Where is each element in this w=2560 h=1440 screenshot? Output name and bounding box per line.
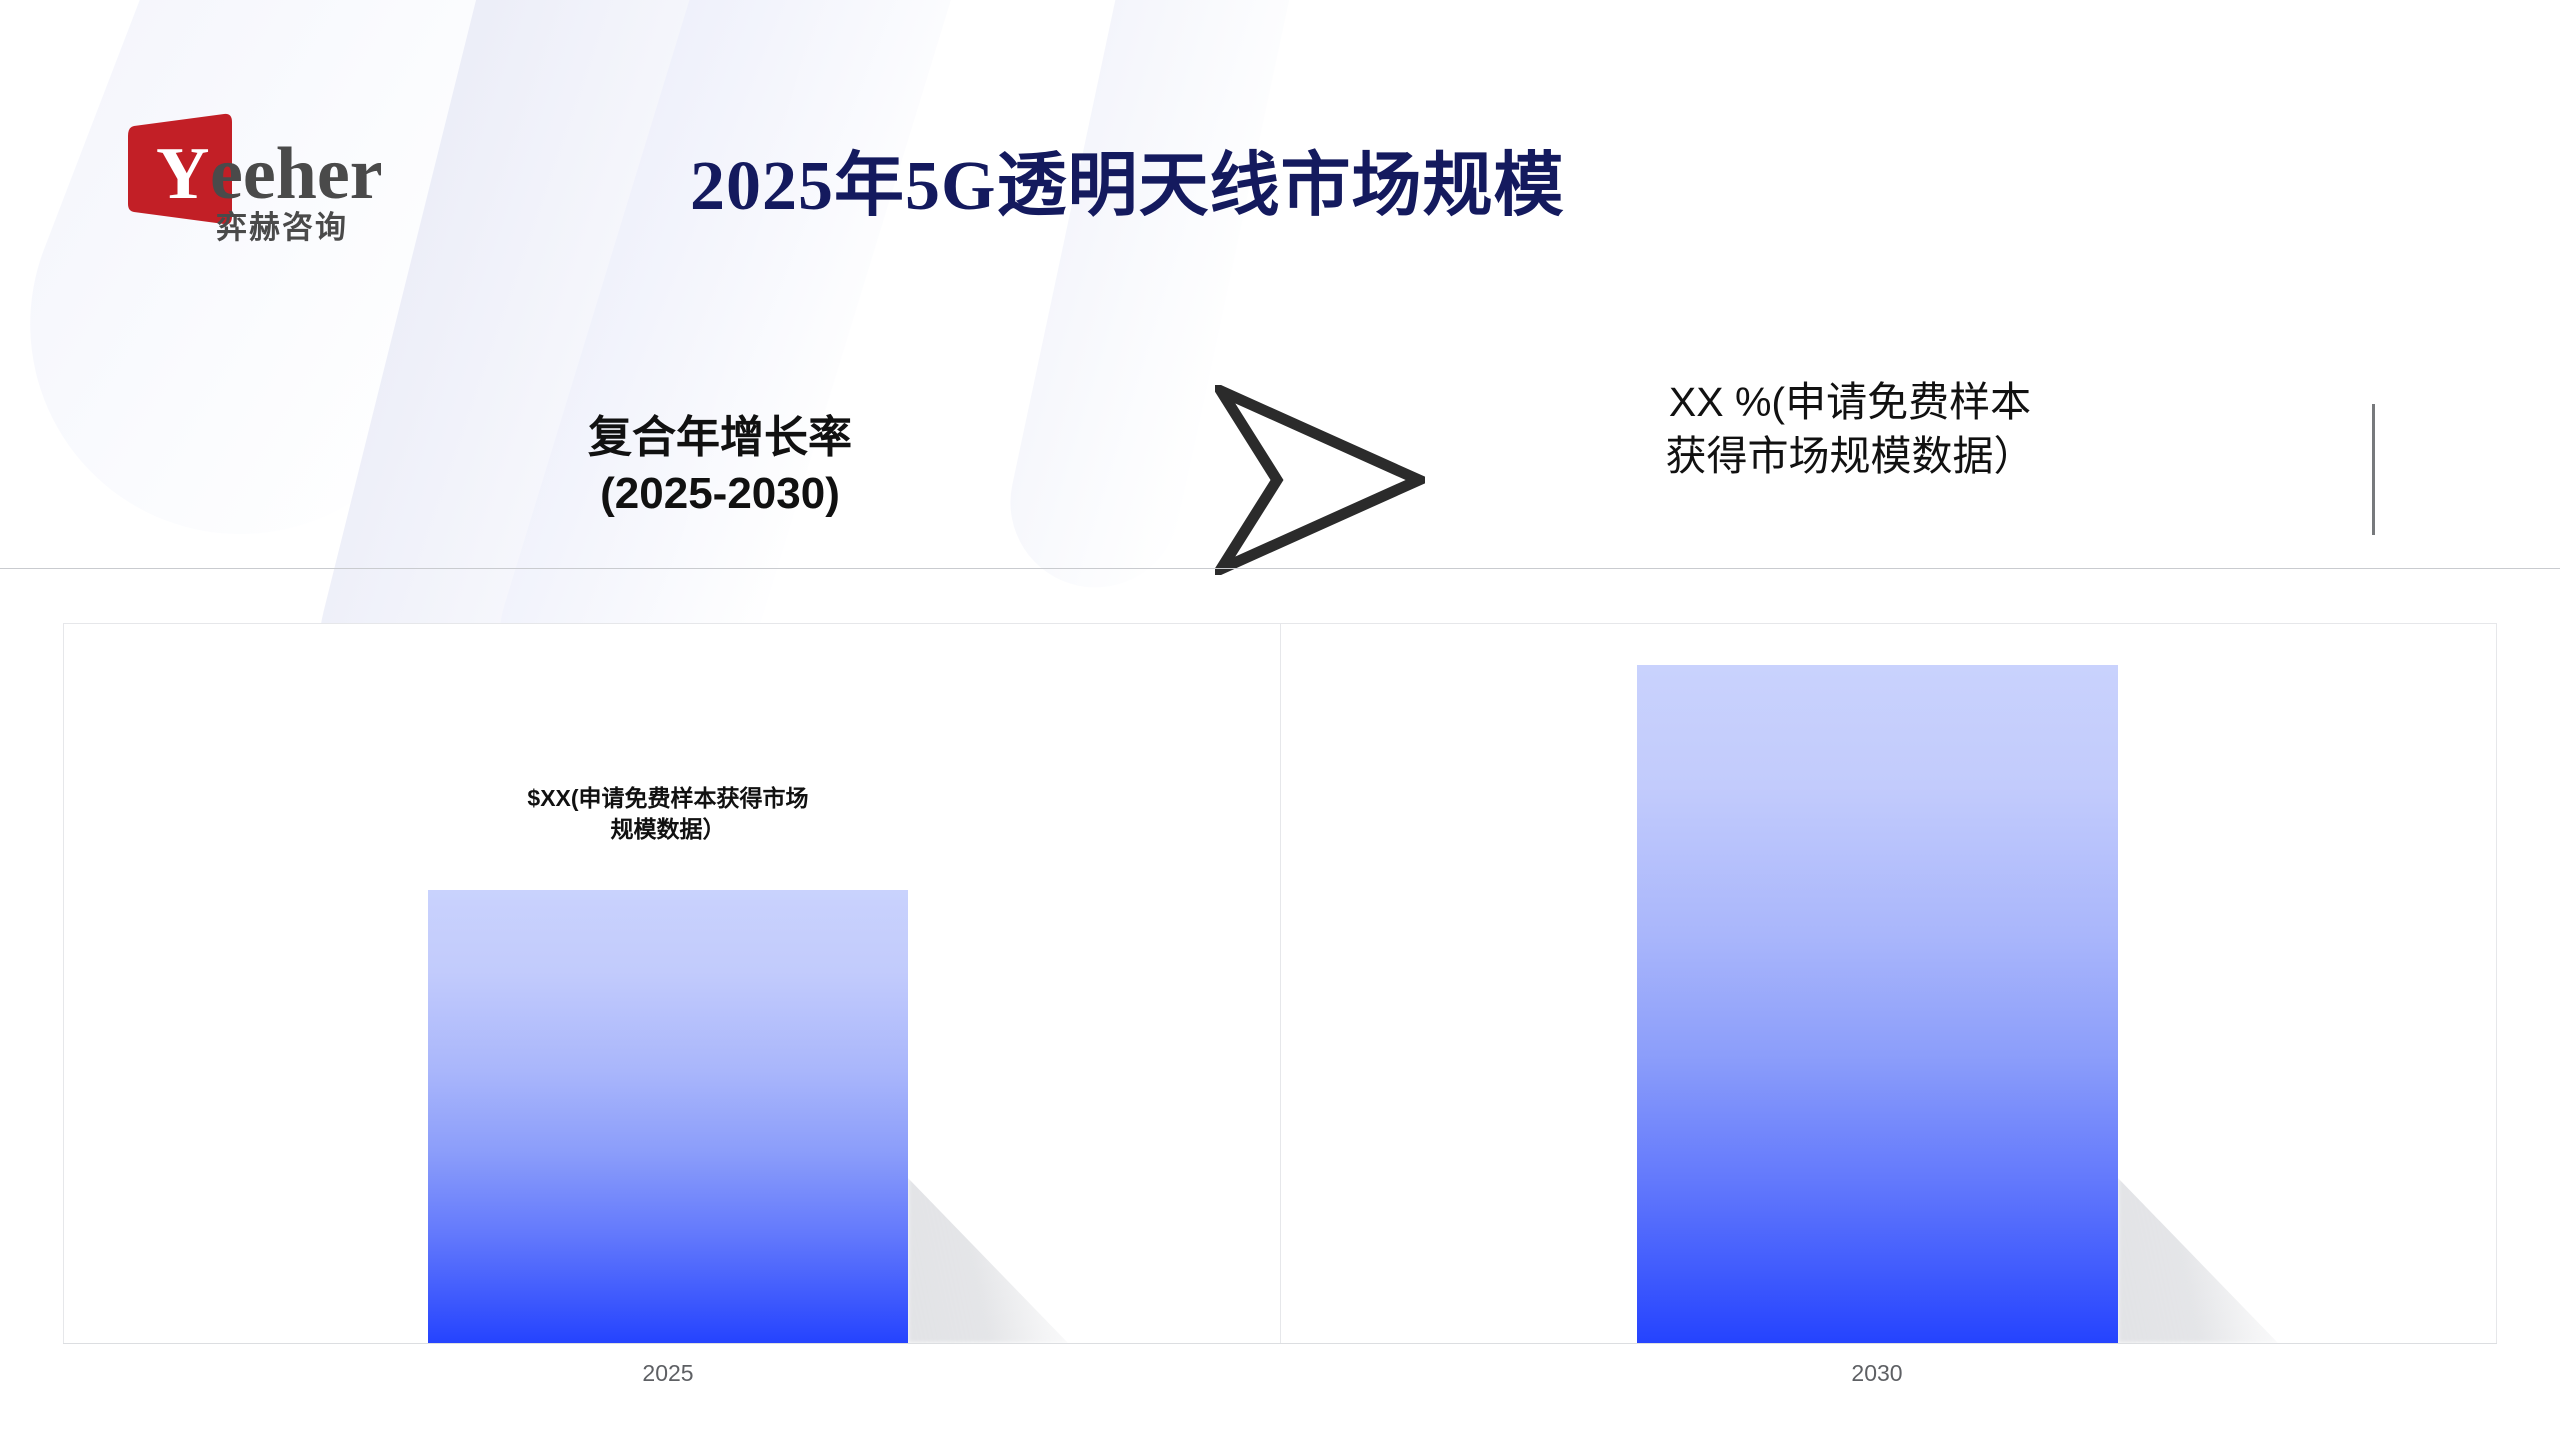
bar-2030[interactable] [1637, 665, 2118, 1343]
bar-data-label-2025: $XX(申请免费样本获得市场 规模数据） [443, 783, 893, 846]
cagr-label-line1: 复合年增长率 [470, 410, 970, 466]
x-axis-tick-2025: 2025 [443, 1360, 893, 1387]
arrow-right-outline-icon [1215, 385, 1425, 575]
chart-baseline [63, 1343, 2497, 1344]
yeeher-logo-icon: Y eeher 弈赫咨询 [128, 112, 468, 242]
right-vertical-divider [2372, 404, 2375, 535]
cagr-label-line2: (2025-2030) [470, 466, 970, 522]
cagr-label: 复合年增长率 (2025-2030) [470, 410, 970, 523]
bar-data-label-2025-line2: 规模数据） [611, 816, 726, 842]
page-title: 2025年5G透明天线市场规模 [690, 150, 1790, 224]
arrow-glyph [1215, 385, 1425, 575]
brand-logo: Y eeher 弈赫咨询 [128, 112, 468, 242]
slide-canvas: Y eeher 弈赫咨询 2025年5G透明天线市场规模 复合年增长率 (202… [0, 0, 2560, 1440]
bar-2025[interactable] [428, 890, 908, 1343]
chart-panel-divider [1280, 624, 1281, 1343]
bar-data-label-2025-line1: $XX(申请免费样本获得市场 [527, 785, 808, 811]
x-axis-tick-2030: 2030 [1652, 1360, 2102, 1387]
svg-text:Y: Y [156, 133, 209, 215]
chart-top-rule [0, 568, 2560, 569]
cagr-value: XX %(申请免费样本 获得市场规模数据） [1560, 375, 2140, 483]
svg-text:eeher: eeher [210, 133, 383, 215]
cagr-value-line1: XX %(申请免费样本 [1560, 375, 2140, 429]
cagr-value-line2: 获得市场规模数据） [1560, 429, 2140, 483]
svg-text:弈赫咨询: 弈赫咨询 [216, 210, 348, 242]
